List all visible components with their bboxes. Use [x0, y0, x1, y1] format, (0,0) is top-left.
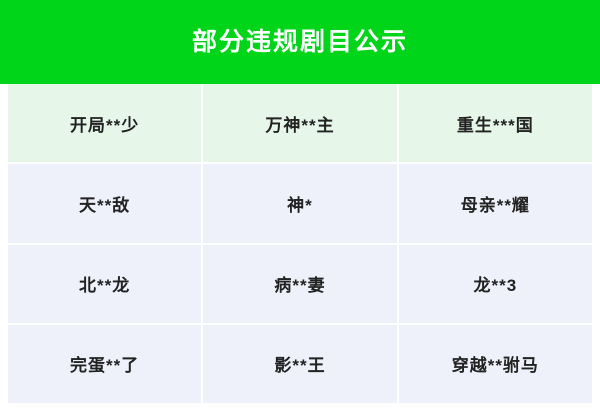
poster-header: 部分违规剧目公示: [0, 0, 600, 84]
drama-title-table: 开局**少 万神**主 重生***国 天**敌 神* 母亲**耀 北**龙 病*…: [0, 84, 600, 411]
table-cell: 天**敌: [8, 164, 203, 242]
table-cell: 重生***国: [399, 84, 592, 162]
table-cell: 开局**少: [8, 84, 203, 162]
table-cell: 母亲**耀: [399, 164, 592, 242]
table-cell: 北**龙: [8, 245, 203, 323]
violation-drama-list-poster: 部分违规剧目公示 开局**少 万神**主 重生***国 天**敌 神* 母亲**…: [0, 0, 600, 411]
table-row: 北**龙 病**妻 龙**3: [8, 245, 592, 325]
table-cell: 病**妻: [203, 245, 398, 323]
table-cell: 穿越**驸马: [399, 325, 592, 403]
table-cell: 完蛋**了: [8, 325, 203, 403]
table-cell: 影**王: [203, 325, 398, 403]
table-cell: 万神**主: [203, 84, 398, 162]
page-title: 部分违规剧目公示: [192, 30, 408, 55]
table-row: 开局**少 万神**主 重生***国: [8, 84, 592, 164]
table-row: 天**敌 神* 母亲**耀: [8, 164, 592, 244]
table-cell: 龙**3: [399, 245, 592, 323]
table-row: 完蛋**了 影**王 穿越**驸马: [8, 325, 592, 403]
table-cell: 神*: [203, 164, 398, 242]
